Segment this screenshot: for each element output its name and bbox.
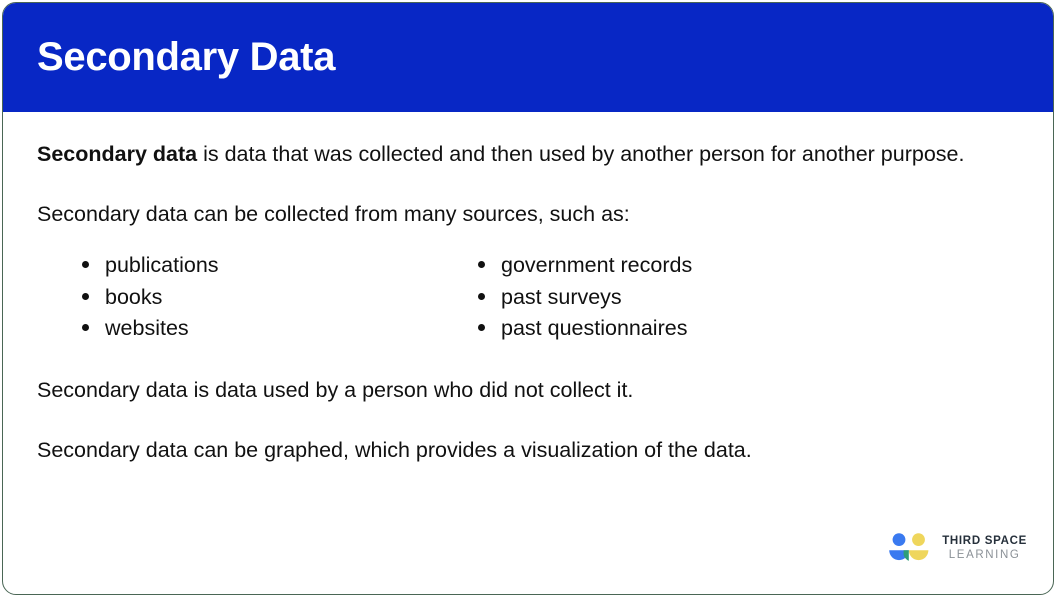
list-item: publications xyxy=(82,250,433,282)
sources-lists: publications books websites government r… xyxy=(37,250,1019,345)
brand-logo: THIRD SPACE LEARNING xyxy=(886,533,1027,564)
bullet-icon xyxy=(478,324,485,331)
brand-wordmark: THIRD SPACE LEARNING xyxy=(942,536,1027,562)
list-item: past surveys xyxy=(478,282,692,314)
list-item-label: publications xyxy=(105,253,219,277)
sources-list-left: publications books websites xyxy=(37,250,433,345)
definition-rest: is data that was collected and then used… xyxy=(197,142,964,166)
third-space-learning-mark-icon xyxy=(886,533,933,564)
page-title: Secondary Data xyxy=(37,35,335,80)
paragraph-sources-intro: Secondary data can be collected from man… xyxy=(37,199,1007,230)
slide-body: Secondary data is data that was collecte… xyxy=(3,112,1053,594)
bullet-icon xyxy=(82,293,89,300)
list-item: websites xyxy=(82,313,433,345)
bullet-icon xyxy=(82,261,89,268)
slide-header: Secondary Data xyxy=(3,3,1053,112)
list-item-label: books xyxy=(105,285,162,309)
paragraph-definition: Secondary data is data that was collecte… xyxy=(37,139,1007,170)
list-item: government records xyxy=(478,250,692,282)
list-item: books xyxy=(82,282,433,314)
bullet-icon xyxy=(478,261,485,268)
brand-name-secondary: LEARNING xyxy=(942,550,1027,562)
brand-name-primary: THIRD SPACE xyxy=(942,536,1027,548)
definition-term: Secondary data xyxy=(37,142,197,166)
list-item-label: past surveys xyxy=(501,285,622,309)
paragraph-used-by: Secondary data is data used by a person … xyxy=(37,375,1007,406)
sources-list-right: government records past surveys past que… xyxy=(433,250,692,345)
list-item: past questionnaires xyxy=(478,313,692,345)
slide-card: Secondary Data Secondary data is data th… xyxy=(2,2,1054,595)
bullet-icon xyxy=(478,293,485,300)
paragraph-graphed: Secondary data can be graphed, which pro… xyxy=(37,435,1007,466)
list-item-label: past questionnaires xyxy=(501,316,687,340)
list-item-label: government records xyxy=(501,253,692,277)
bullet-icon xyxy=(82,324,89,331)
list-item-label: websites xyxy=(105,316,189,340)
